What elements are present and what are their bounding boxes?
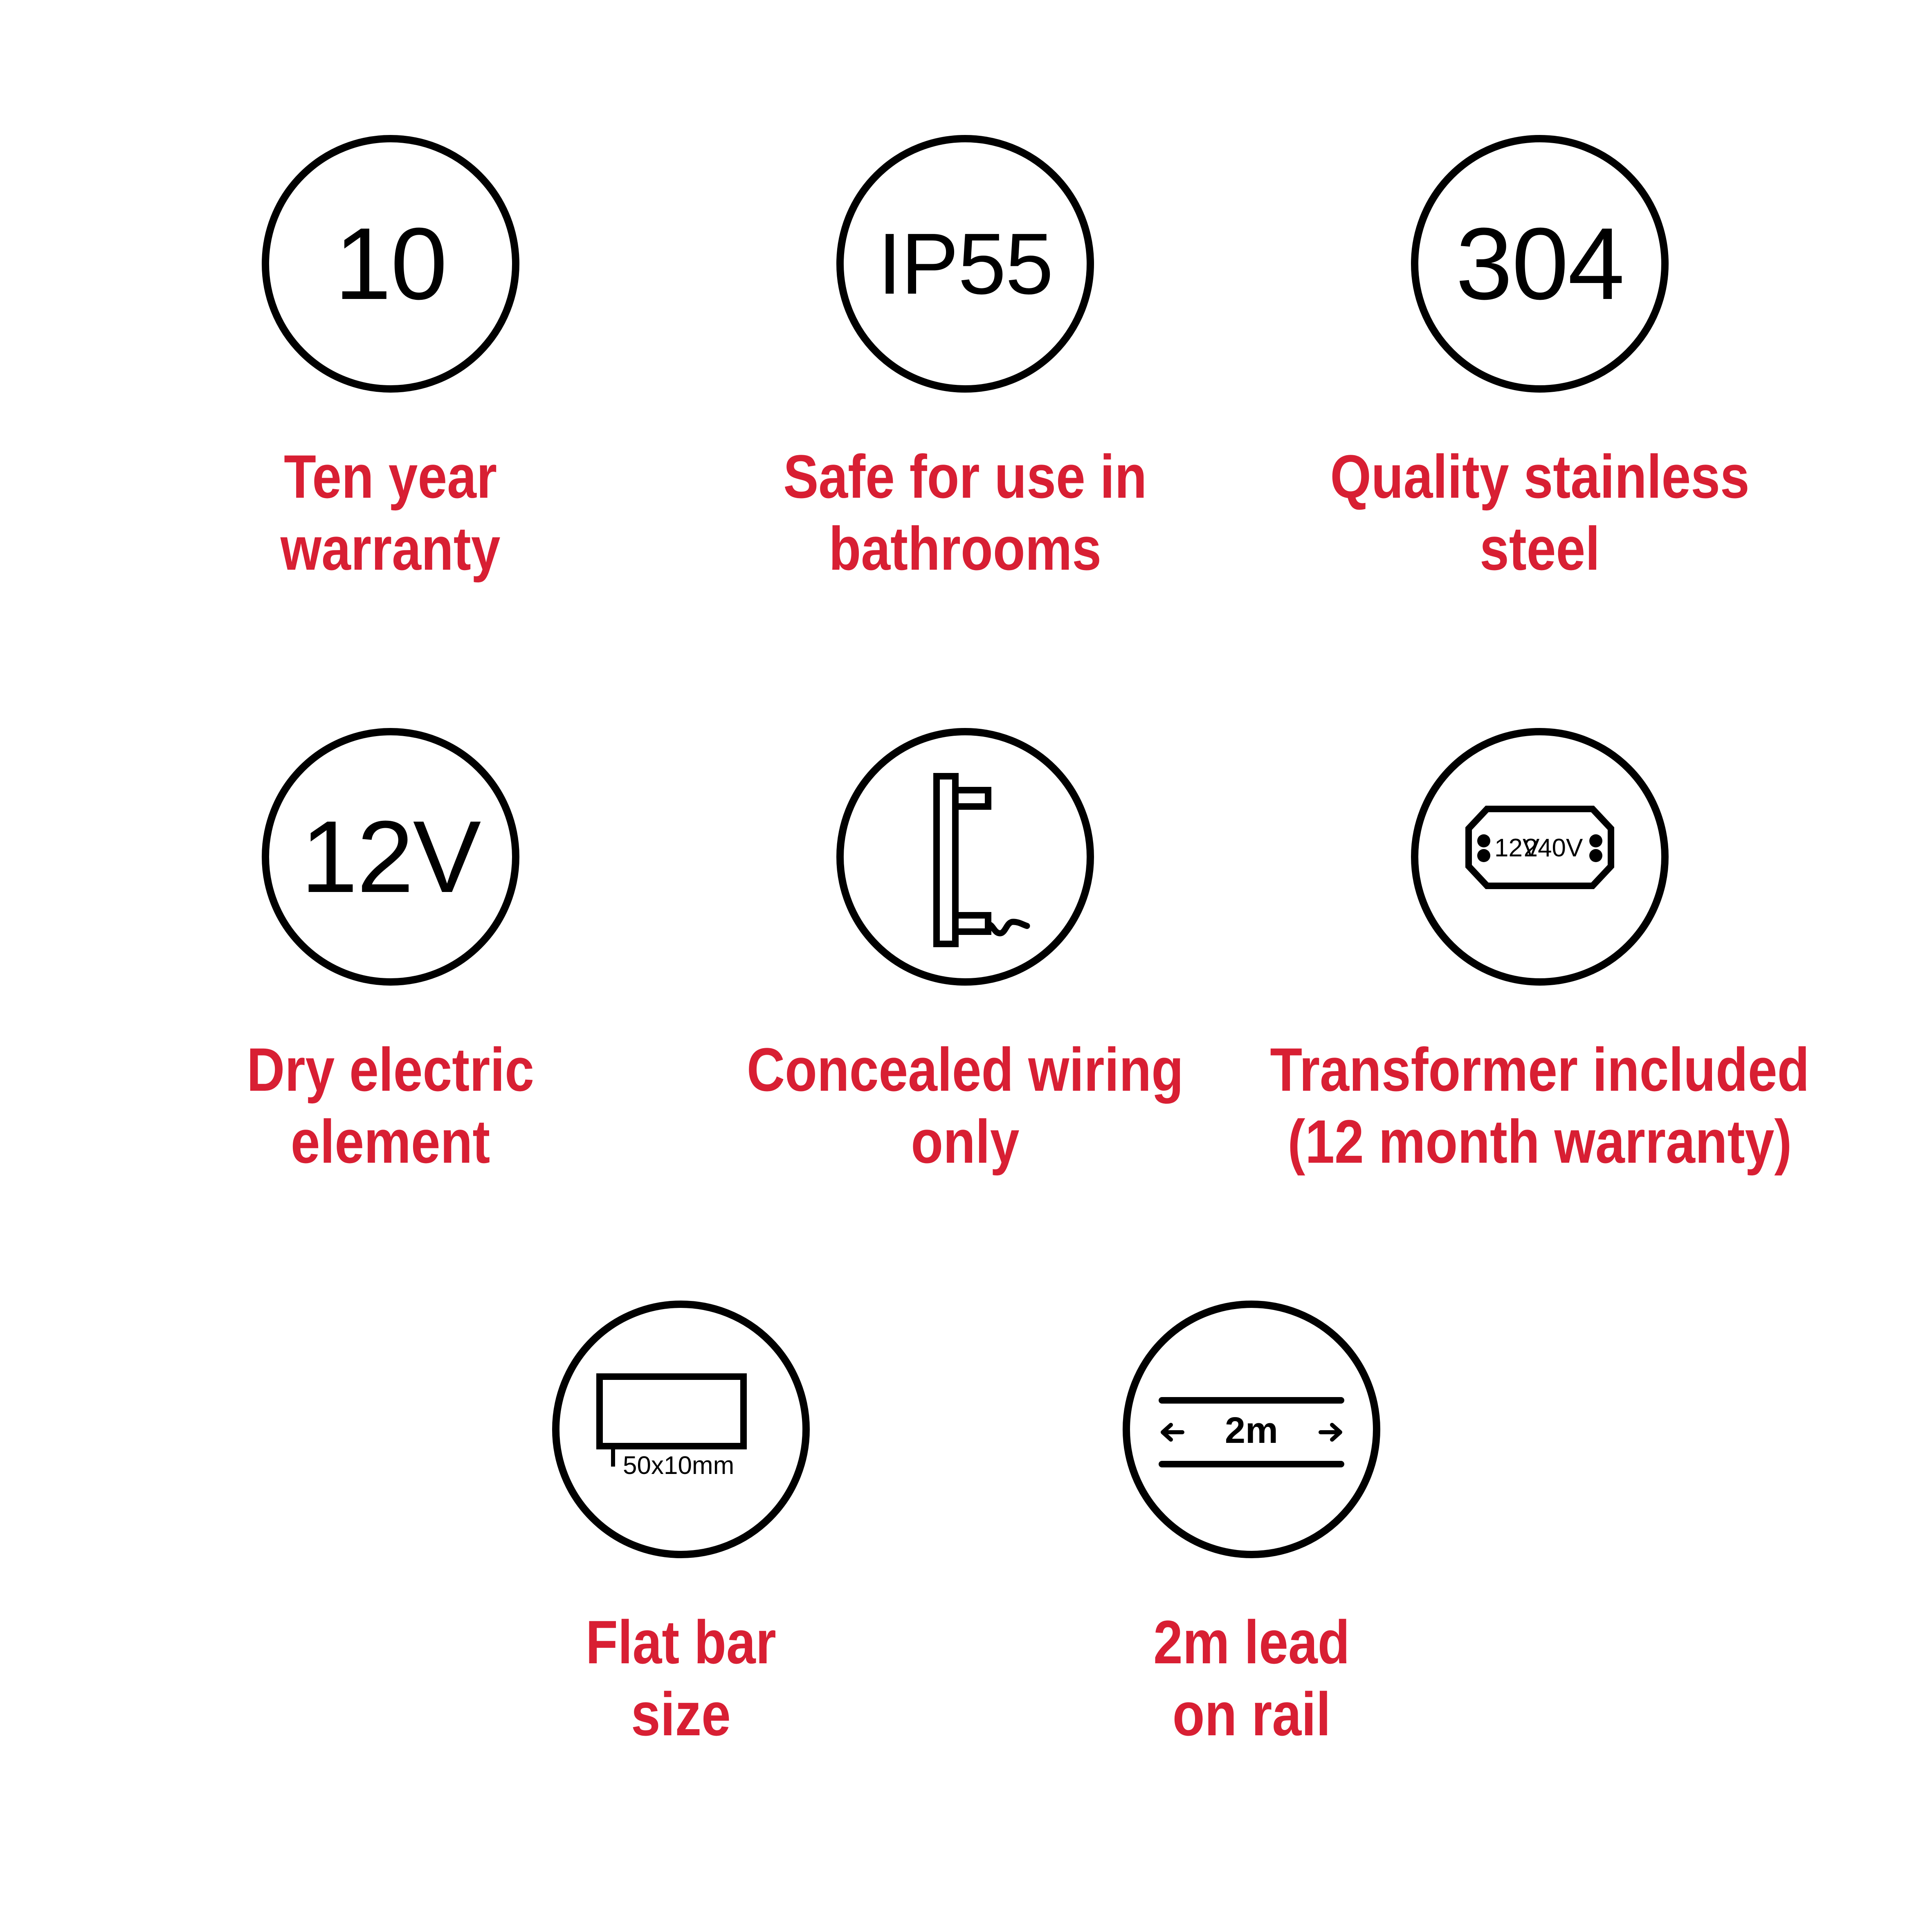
- badge-label-10: 10: [335, 213, 447, 315]
- caption-line-1: Concealed wiring: [747, 1034, 1184, 1106]
- feature-lead-on-rail: 2m 2m lead on rail: [965, 1301, 1538, 1750]
- caption-concealed-wiring: Concealed wiring only: [747, 1034, 1184, 1177]
- feature-flat-bar-size: 50x10mm Flat bar size: [395, 1301, 967, 1750]
- cable-length-icon: 2m: [1130, 1308, 1373, 1551]
- badge-ip-rating: IP55: [836, 135, 1094, 393]
- transformer-icon: 12V 240V: [1418, 735, 1661, 978]
- badge-steel-grade: 304: [1411, 135, 1669, 393]
- caption-lead-on-rail: 2m lead on rail: [1153, 1606, 1350, 1750]
- caption-dry-electric-element: Dry electric element: [247, 1034, 535, 1177]
- feature-ten-year-warranty: 10 Ten year warranty: [104, 135, 677, 584]
- badge-flat-bar: 50x10mm: [552, 1301, 810, 1558]
- badge-ten-year-warranty: 10: [262, 135, 519, 393]
- feature-dry-electric-element: 12V Dry electric element: [104, 728, 677, 1177]
- badge-label-ip55: IP55: [878, 220, 1053, 307]
- badge-concealed-wiring: [836, 728, 1094, 986]
- caption-stainless-steel: Quality stainless steel: [1330, 441, 1749, 584]
- badge-voltage: 12V: [262, 728, 519, 986]
- feature-badge-grid: 10 Ten year warranty IP55 Safe for use i…: [0, 0, 1932, 1932]
- caption-line-1: Safe for use in: [784, 441, 1147, 513]
- caption-safe-bathrooms: Safe for use in bathrooms: [784, 441, 1147, 584]
- feature-concealed-wiring: Concealed wiring only: [679, 728, 1251, 1177]
- caption-line-1: Transformer included: [1270, 1034, 1810, 1106]
- caption-line-2: element: [247, 1106, 535, 1178]
- cable-length-label: 2m: [1225, 1410, 1278, 1451]
- caption-line-2: bathrooms: [784, 513, 1147, 585]
- caption-line-2: warranty: [281, 513, 501, 585]
- badge-label-304: 304: [1456, 213, 1624, 315]
- caption-flat-bar-size: Flat bar size: [586, 1606, 776, 1750]
- flat-bar-dimension-label: 50x10mm: [623, 1451, 734, 1480]
- badge-label-12v: 12V: [301, 806, 481, 908]
- caption-line-1: Flat bar: [586, 1606, 776, 1678]
- feature-safe-bathrooms: IP55 Safe for use in bathrooms: [679, 135, 1251, 584]
- caption-line-2: only: [747, 1106, 1184, 1178]
- caption-line-2: on rail: [1153, 1678, 1350, 1750]
- caption-line-2: size: [586, 1678, 776, 1750]
- caption-line-1: Dry electric: [247, 1034, 535, 1106]
- caption-line-1: 2m lead: [1153, 1606, 1350, 1678]
- caption-line-1: Ten year: [281, 441, 501, 513]
- badge-transformer: 12V 240V: [1411, 728, 1669, 986]
- wall-rail-cable-icon: [844, 735, 1087, 978]
- caption-line-2: steel: [1330, 513, 1749, 585]
- badge-cable-length: 2m: [1123, 1301, 1380, 1558]
- feature-stainless-steel: 304 Quality stainless steel: [1254, 135, 1826, 584]
- caption-line-2: (12 month warranty): [1270, 1106, 1810, 1178]
- caption-transformer-included: Transformer included (12 month warranty): [1270, 1034, 1810, 1177]
- caption-line-1: Quality stainless: [1330, 441, 1749, 513]
- caption-ten-year-warranty: Ten year warranty: [281, 441, 501, 584]
- flat-bar-icon: 50x10mm: [559, 1308, 802, 1551]
- transformer-output-label: 240V: [1524, 834, 1583, 862]
- feature-transformer-included: 12V 240V Transformer included (12 month …: [1254, 728, 1826, 1177]
